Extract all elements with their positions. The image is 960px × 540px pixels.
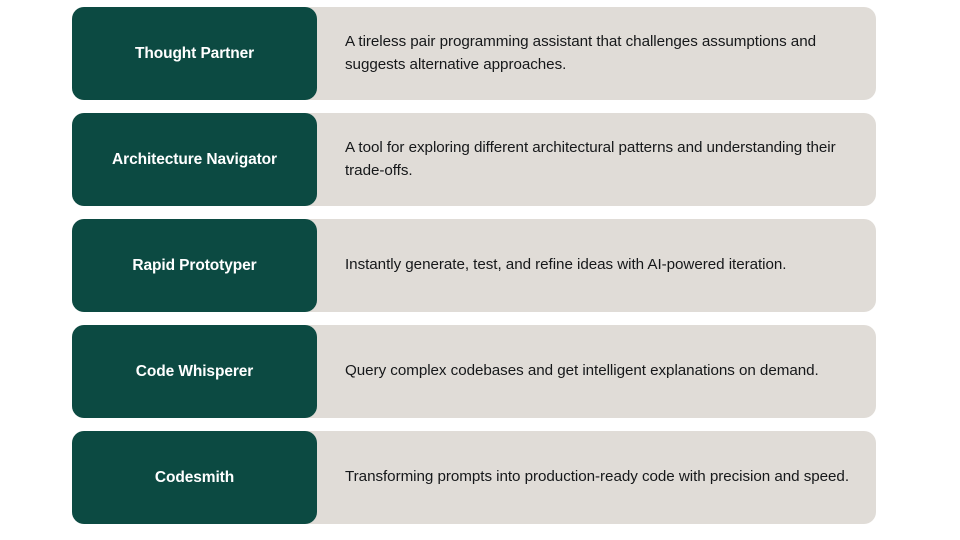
feature-label-text: Codesmith: [155, 468, 234, 487]
feature-description-text: Transforming prompts into production-rea…: [345, 466, 849, 488]
feature-description: Transforming prompts into production-rea…: [317, 431, 876, 524]
feature-label-text: Rapid Prototyper: [132, 256, 256, 275]
feature-description: Instantly generate, test, and refine ide…: [317, 219, 876, 312]
feature-label-badge: Code Whisperer: [72, 325, 317, 418]
feature-description-text: Instantly generate, test, and refine ide…: [345, 254, 786, 276]
feature-row: Code Whisperer Query complex codebases a…: [72, 325, 876, 418]
feature-label-text: Thought Partner: [135, 44, 254, 63]
feature-row: Rapid Prototyper Instantly generate, tes…: [72, 219, 876, 312]
feature-label-text: Code Whisperer: [136, 362, 253, 381]
feature-description: Query complex codebases and get intellig…: [317, 325, 876, 418]
feature-row: Architecture Navigator A tool for explor…: [72, 113, 876, 206]
feature-description-text: A tireless pair programming assistant th…: [345, 31, 852, 75]
feature-description: A tireless pair programming assistant th…: [317, 7, 876, 100]
feature-label-badge: Rapid Prototyper: [72, 219, 317, 312]
feature-label-badge: Codesmith: [72, 431, 317, 524]
feature-label-badge: Thought Partner: [72, 7, 317, 100]
feature-label-text: Architecture Navigator: [112, 150, 277, 169]
feature-description: A tool for exploring different architect…: [317, 113, 876, 206]
feature-description-text: A tool for exploring different architect…: [345, 137, 852, 181]
feature-list: Thought Partner A tireless pair programm…: [72, 7, 876, 533]
feature-row: Codesmith Transforming prompts into prod…: [72, 431, 876, 524]
feature-label-badge: Architecture Navigator: [72, 113, 317, 206]
feature-row: Thought Partner A tireless pair programm…: [72, 7, 876, 100]
feature-description-text: Query complex codebases and get intellig…: [345, 360, 819, 382]
